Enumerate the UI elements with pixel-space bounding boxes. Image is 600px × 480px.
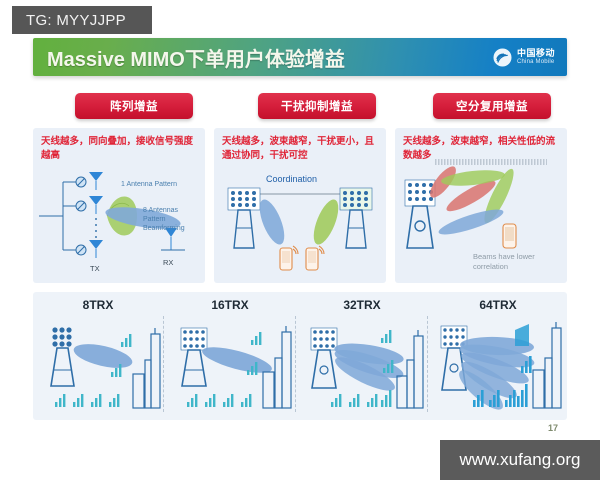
- trx-label-16: 16TRX: [165, 298, 295, 312]
- panel-interference-caption-coordination: Coordination: [266, 174, 317, 186]
- telegram-watermark-text: TG: MYYJJPP: [26, 12, 126, 29]
- trx-divider-1: [163, 316, 164, 412]
- tower-icon-16: [181, 328, 207, 386]
- antenna-array-right: [340, 188, 372, 248]
- page-number: 17: [548, 423, 558, 433]
- china-mobile-spiral-icon: [493, 48, 512, 67]
- buildings-8: [133, 328, 160, 408]
- trx-label-64: 64TRX: [429, 298, 567, 312]
- trx-label-32: 32TRX: [297, 298, 427, 312]
- coordination-diagram: [214, 186, 386, 281]
- panel-array-caption-1antenna: 1 Antenna Pattern: [121, 180, 201, 189]
- trx-8-illustration: [33, 320, 163, 416]
- trx-cell-32: 32TRX: [297, 292, 427, 420]
- panel-interference-heading: 天线越多，波束越窄，干扰更小，且通过协同，干扰可控: [222, 135, 380, 163]
- tower-icon-32: [311, 328, 337, 388]
- trx-divider-2: [295, 316, 296, 412]
- gain-pill-array-label: 阵列增益: [110, 98, 158, 114]
- trx-divider-3: [427, 316, 428, 412]
- panel-array-gain: 天线越多，同向叠加，接收信号强度越高: [33, 128, 205, 283]
- panel-array-gain-heading: 天线越多，同向叠加，接收信号强度越高: [41, 135, 199, 163]
- slide-title-bar: Massive MIMO下单用户体验增益 中国移动 China Mobile: [33, 38, 567, 76]
- trx-16-illustration: [165, 320, 295, 416]
- panel-spatial-caption-correlation: Beams have lower correlation: [473, 252, 557, 272]
- trx-cell-16: 16TRX: [165, 292, 295, 420]
- gain-pill-spatial-label: 空分复用增益: [456, 98, 528, 114]
- panel-array-caption-8antennas: 8 Antennas Pattern Beamforming: [143, 206, 201, 233]
- gain-pill-spatial[interactable]: 空分复用增益: [433, 93, 551, 119]
- panel-interference-gain: 天线越多，波束越窄，干扰更小，且通过协同，干扰可控 Coordination: [214, 128, 386, 283]
- slide-title: Massive MIMO下单用户体验增益: [47, 43, 345, 72]
- trx-32-illustration: [297, 320, 427, 416]
- panel-array-caption-tx: TX: [90, 264, 100, 274]
- brand-name-cn: 中国移动: [517, 49, 555, 58]
- gain-panels: 天线越多，同向叠加，接收信号强度越高: [33, 128, 567, 283]
- illegible-caption-strip: [435, 159, 547, 165]
- trx-cell-8: 8TRX: [33, 292, 163, 420]
- telegram-watermark-badge: TG: MYYJJPP: [12, 6, 152, 34]
- trx-comparison-panel: 8TRX: [33, 292, 567, 420]
- gain-pill-row: 阵列增益 干扰抑制增益 空分复用增益: [33, 93, 567, 123]
- site-watermark-text: www.xufang.org: [460, 450, 581, 470]
- panel-spatial-gain: 天线越多，波束越窄，相关性低的流数越多: [395, 128, 567, 283]
- trx-cell-64: 64TRX: [429, 292, 567, 420]
- gain-pill-array[interactable]: 阵列增益: [75, 93, 193, 119]
- trx-label-8: 8TRX: [33, 298, 163, 312]
- trx-64-illustration: [429, 320, 567, 416]
- phone-right: [306, 246, 324, 270]
- phone-receiver: [503, 224, 516, 248]
- antenna-array-left: [228, 188, 260, 248]
- tower-icon-8: [51, 327, 74, 386]
- site-watermark-badge: www.xufang.org: [440, 440, 600, 480]
- slide-page: TG: MYYJJPP Massive MIMO下单用户体验增益 中国移动 Ch…: [0, 0, 600, 480]
- buildings-32: [397, 330, 423, 408]
- panel-array-caption-rx: RX: [163, 258, 173, 268]
- antenna-array-tower: [405, 180, 435, 248]
- brand-name-en: China Mobile: [517, 59, 555, 65]
- buildings-64: [533, 322, 561, 408]
- phone-left: [280, 246, 298, 270]
- gain-pill-interference-label: 干扰抑制增益: [281, 98, 353, 114]
- gain-pill-interference[interactable]: 干扰抑制增益: [258, 93, 376, 119]
- china-mobile-logo: 中国移动 China Mobile: [493, 48, 555, 67]
